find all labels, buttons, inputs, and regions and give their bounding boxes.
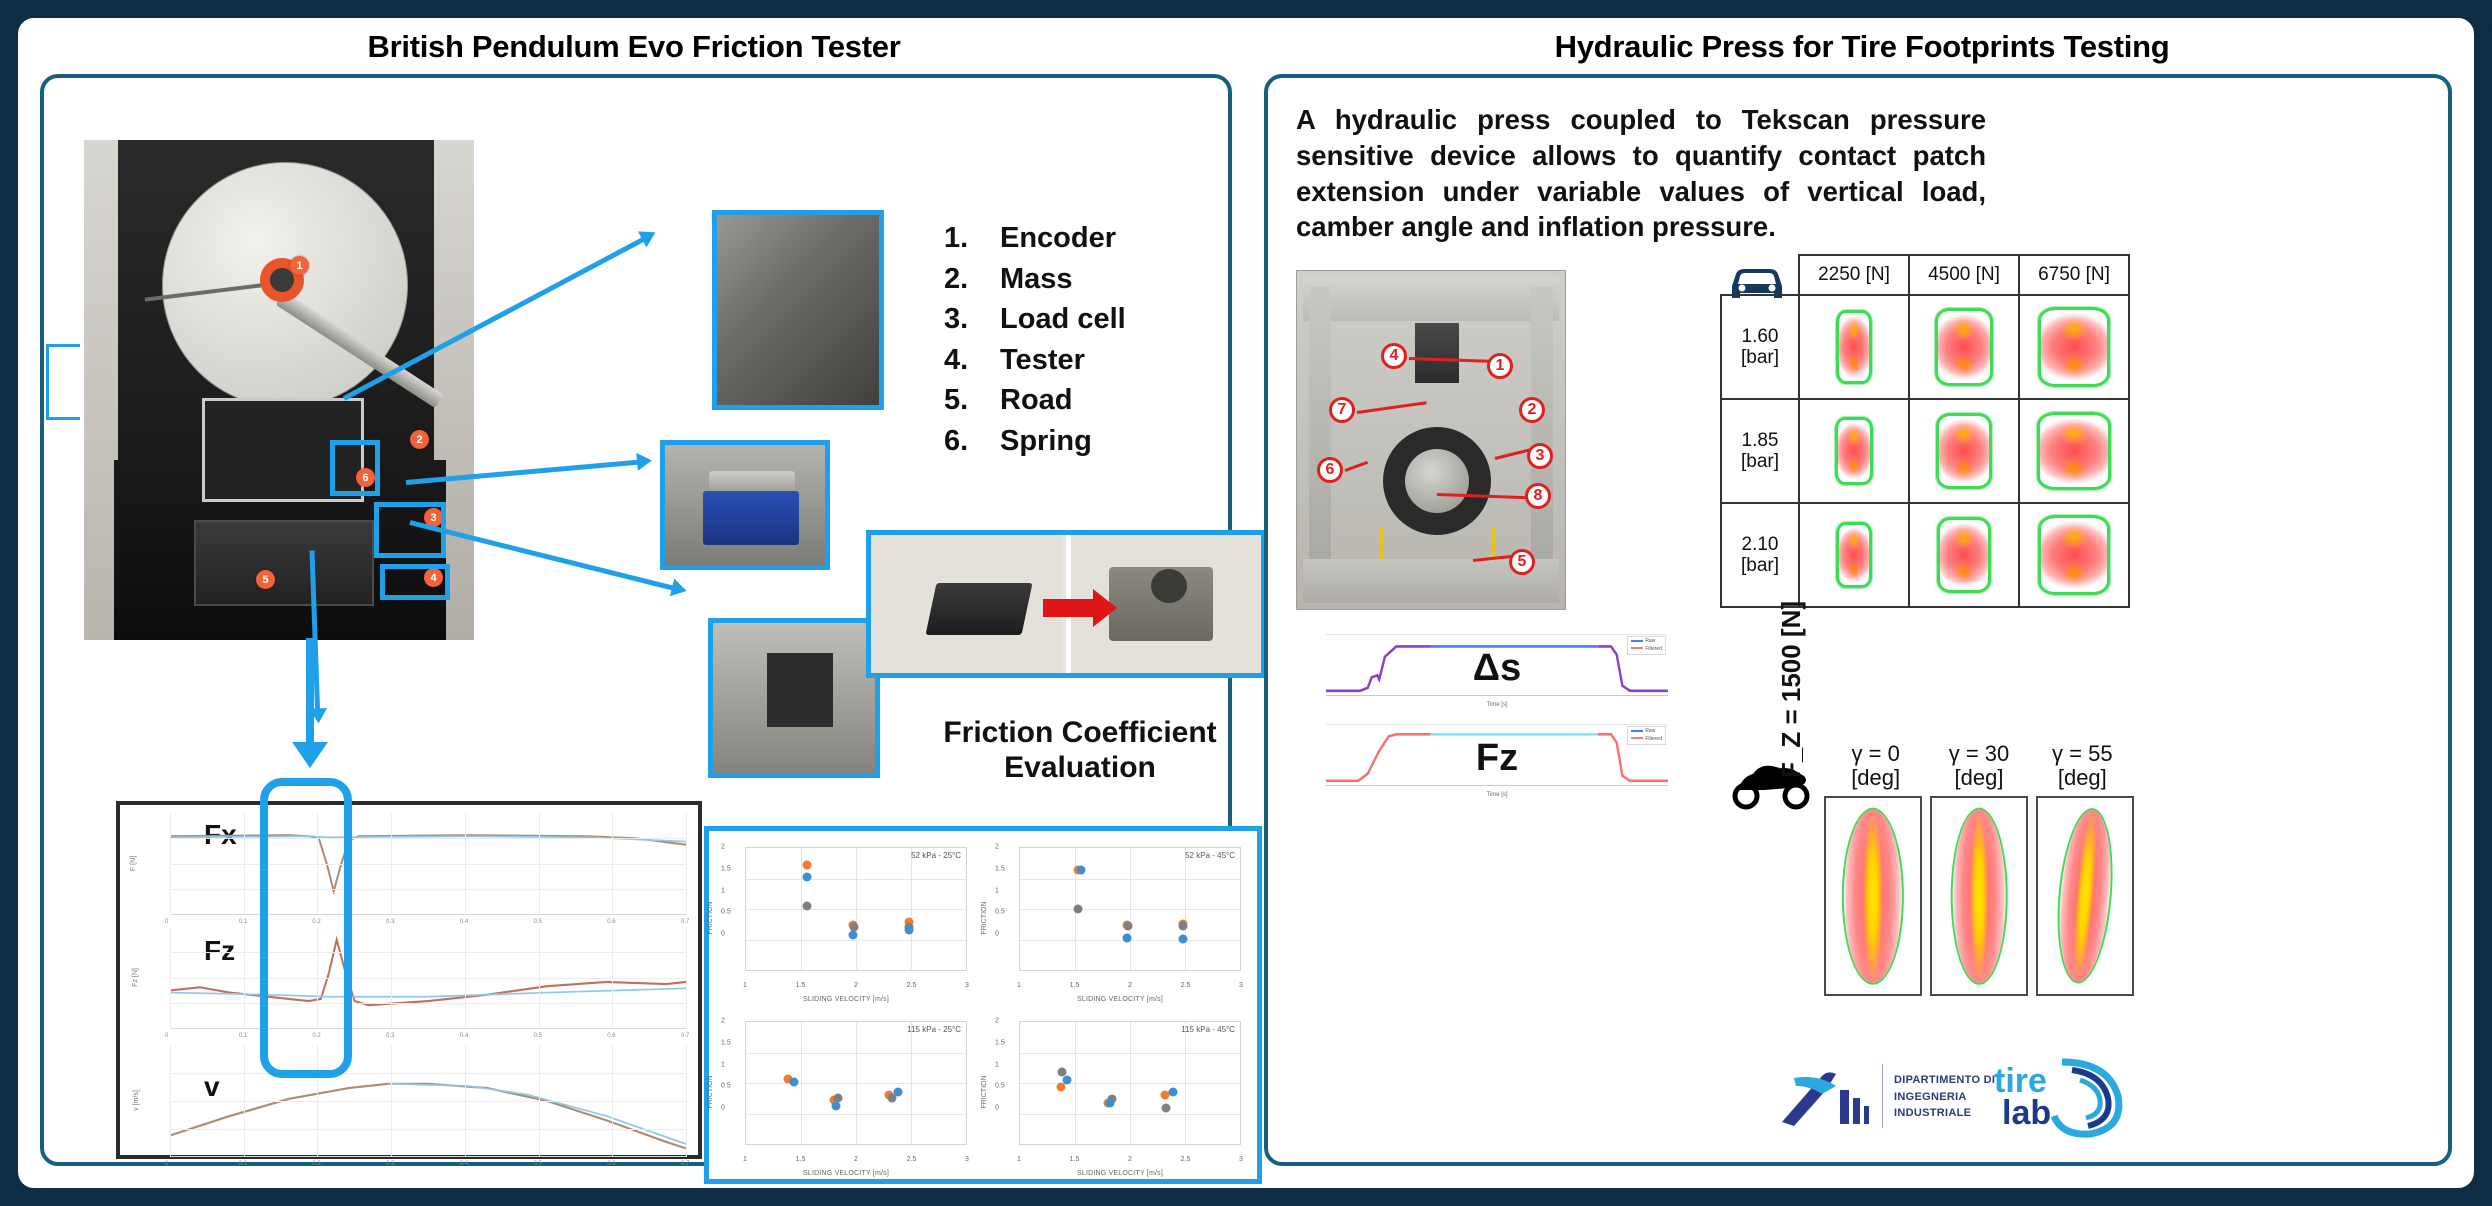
scatter-point (1178, 922, 1187, 931)
scatter-y-tick: 1 (721, 887, 725, 894)
scatter-gridline-v (1075, 1022, 1076, 1144)
friction-scatter-grid: 52 kPa - 25°C00.511.5211.522.53SLIDING V… (704, 826, 1262, 1184)
signal-highlight-box (260, 778, 352, 1078)
pressure-footprint (1839, 525, 1869, 585)
specimen-holder-hole (1151, 569, 1187, 603)
legend-label-1: Encoder (1000, 222, 1116, 254)
scatter-point (1056, 1083, 1065, 1092)
scatter-xlabel: SLIDING VELOCITY [m/s] (709, 996, 983, 1003)
dii-line-3: INDUSTRIALE (1894, 1105, 1995, 1122)
poster-frame: British Pendulum Evo Friction Tester 1 2… (0, 0, 2492, 1206)
signal-gridline-v (465, 927, 466, 1029)
tirelab-word-lab: lab (2002, 1094, 2051, 1133)
legend-num-6: 6. (944, 421, 1000, 462)
delta-s-plot: Δs Raw Filtered Time [s] (1326, 634, 1668, 696)
scatter-point (1123, 922, 1132, 931)
footprint-cell-2-0 (1799, 503, 1909, 607)
scatter-gridline-v (1185, 1022, 1186, 1144)
signal-gridline-v (170, 1045, 171, 1157)
scatter-point (893, 1087, 902, 1096)
footprint-cell-1-0 (1799, 399, 1909, 503)
camber-pressure-footprint (1844, 810, 1902, 982)
scatter-x-tick: 3 (1239, 982, 1243, 989)
delta-s-big-label: Δs (1326, 647, 1668, 690)
pressure-footprint (1938, 311, 1990, 383)
scatter-x-tick: 1 (1017, 1156, 1021, 1163)
scatter-y-tick: 0 (721, 931, 725, 938)
legend-item-6: 6.Spring (944, 421, 1126, 462)
footprint-row-header-0: 1.60 [bar] (1721, 295, 1799, 399)
dii-line-2: INGEGNERIA (1894, 1089, 1995, 1106)
left-panel: 1 2 3 4 5 6 (40, 74, 1232, 1166)
scatter-y-tick: 1.5 (721, 1039, 731, 1046)
signal-gridline-v (539, 1045, 540, 1157)
footprint-cell-1-1 (1909, 399, 2019, 503)
legend-num-3: 3. (944, 299, 1000, 340)
press-leader-6 (1344, 461, 1368, 472)
press-top-beam (1303, 277, 1559, 321)
tirelab-logo: tire lab (1990, 1054, 2138, 1140)
press-callout-7: 7 (1329, 397, 1355, 423)
signal-gridline-v (539, 927, 540, 1029)
scatter-x-tick: 1.5 (796, 1156, 806, 1163)
fz-subplot: Fz [N] Fz 00.10.20.30.40.50.60.7 (170, 927, 686, 1029)
poster-columns: British Pendulum Evo Friction Tester 1 2… (18, 18, 2474, 1188)
signal-gridline-v (612, 813, 613, 915)
signal-x-tick: 0.4 (460, 1161, 468, 1167)
legend-item-4: 4.Tester (944, 340, 1126, 381)
signal-x-tick: 0.3 (386, 1161, 394, 1167)
friction-coefficient-heading: Friction Coefficient Evaluation (900, 716, 1260, 785)
scatter-y-tick: 0.5 (721, 1083, 731, 1090)
signal-gridline-v (170, 927, 171, 1029)
scatter-y-tick: 1 (995, 887, 999, 894)
legend-label-3: Load cell (1000, 303, 1126, 335)
legend-num-1: 1. (944, 218, 1000, 259)
signal-x-tick: 0.4 (460, 919, 468, 925)
press-frame-right (1531, 287, 1553, 585)
dii-logo-text: DIPARTIMENTO DI INGEGNERIA INDUSTRIALE (1894, 1072, 1995, 1122)
signal-x-tick: 0.6 (607, 919, 615, 925)
scatter-ylabel: FRICTION (707, 1075, 714, 1108)
scatter-y-tick: 0 (721, 1105, 725, 1112)
scatter-y-tick: 0 (995, 1105, 999, 1112)
scatter-x-tick: 1 (743, 1156, 747, 1163)
scatter-x-tick: 3 (965, 1156, 969, 1163)
signal-gridline-v (686, 927, 687, 1029)
right-panel-title: Hydraulic Press for Tire Footprints Test… (1250, 18, 2474, 65)
scatter-point (802, 901, 811, 910)
pressure-footprint (1838, 420, 1870, 482)
scatter-gridline-v (801, 1022, 802, 1144)
footprint-header-row: 2250 [N] 4500 [N] 6750 [N] (1721, 255, 2129, 295)
signal-gridline-v (612, 1045, 613, 1157)
fx-subplot: F [N] Fx 00.10.20.30.40.50.60.7 (170, 813, 686, 915)
tester-block (767, 653, 833, 727)
signal-x-tick: 0.5 (534, 919, 542, 925)
legend-text-raw: Raw (1645, 638, 1655, 644)
signal-gridline-h (170, 864, 686, 865)
footprint-matrix: 2250 [N] 4500 [N] 6750 [N] 1.60 [bar] 1.… (1720, 254, 2130, 608)
fx-ylabel: F [N] (130, 856, 137, 871)
scatter-point (1074, 905, 1083, 914)
logo-divider (1882, 1064, 1883, 1128)
press-actuator-column (1415, 323, 1459, 383)
scatter-y-tick: 1 (721, 1061, 725, 1068)
legend-label-2: Mass (1000, 263, 1073, 295)
bracket-left-connector (46, 344, 80, 420)
scatter-x-tick: 1 (1017, 982, 1021, 989)
scatter-panel-0: 52 kPa - 25°C00.511.5211.522.53SLIDING V… (709, 831, 983, 1005)
scatter-x-tick: 2 (854, 1156, 858, 1163)
signal-gridline-v (686, 1045, 687, 1157)
scatter-x-tick: 1.5 (1070, 982, 1080, 989)
footprint-col-header-1: 4500 [N] (1909, 255, 2019, 295)
legend-swatch-raw-2 (1631, 730, 1643, 732)
legend-swatch-filtered (1631, 647, 1643, 649)
scatter-point (832, 1102, 841, 1111)
signal-gridline-v (686, 813, 687, 915)
footprint-col-header-2: 6750 [N] (2019, 255, 2129, 295)
scatter-ylabel: FRICTION (981, 901, 988, 934)
camber-label-1: γ = 30 [deg] (1949, 741, 2010, 790)
scatter-y-tick: 1.5 (995, 865, 1005, 872)
signal-x-tick: 0.4 (460, 1033, 468, 1039)
signal-gridline-v (465, 1045, 466, 1157)
footprint-col-header-0: 2250 [N] (1799, 255, 1909, 295)
signal-gridline-h (170, 1073, 686, 1074)
legend-num-2: 2. (944, 259, 1000, 300)
highlight-stem (306, 638, 314, 748)
scatter-x-tick: 1.5 (796, 982, 806, 989)
dii-line-1: DIPARTIMENTO DI (1894, 1072, 1995, 1089)
press-callout-8: 8 (1525, 483, 1551, 509)
encoder-detail-photo (712, 210, 884, 410)
v-ylabel: v [m/s] (133, 1090, 140, 1111)
signal-gridline-h (170, 1129, 686, 1130)
left-column: British Pendulum Evo Friction Tester 1 2… (18, 18, 1250, 1188)
v-subplot: v [m/s] v 00.10.20.30.40.50.60.7 (170, 1045, 686, 1157)
signal-x-tick: 0 (165, 1161, 168, 1167)
footprint-cell-2-1 (1909, 503, 2019, 607)
load-cell-body (703, 491, 799, 545)
signal-x-tick: 0.7 (681, 1033, 689, 1039)
delta-s-legend-filtered: Filtered (1631, 646, 1662, 654)
signal-gridline-v (612, 927, 613, 1029)
legend-label-5: Road (1000, 384, 1073, 416)
camber-header-2: γ = 55 [deg] (2031, 742, 2134, 790)
signal-gridline-h (170, 952, 686, 953)
signal-gridline-v (465, 813, 466, 915)
signal-gridline-h (170, 838, 686, 839)
signal-gridline-v (391, 1045, 392, 1157)
scatter-gridline-v (1185, 848, 1186, 970)
signal-gridline-v (170, 813, 171, 915)
legend-item-5: 5.Road (944, 380, 1126, 421)
pendulum-hub-inner (270, 268, 294, 292)
signal-gridline-v (244, 813, 245, 915)
camber-cell-1 (1930, 796, 2028, 996)
scatter-panel-2: 115 kPa - 25°C00.511.5211.522.53SLIDING … (709, 1005, 983, 1179)
signal-gridline-h (170, 978, 686, 979)
scatter-xlabel: SLIDING VELOCITY [m/s] (709, 1170, 983, 1177)
scatter-panel-title: 52 kPa - 45°C (1185, 851, 1235, 860)
pressure-footprint (2041, 518, 2107, 592)
signal-x-tick: 0.1 (239, 1033, 247, 1039)
footprint-cell-2-2 (2019, 503, 2129, 607)
scatter-x-tick: 2.5 (1181, 1156, 1191, 1163)
camber-headers: γ = 0 [deg] γ = 30 [deg] γ = 55 [deg] (1824, 742, 2134, 790)
legend-swatch-filtered-2 (1631, 737, 1643, 739)
signal-x-tick: 0.7 (681, 1161, 689, 1167)
left-panel-title: British Pendulum Evo Friction Tester (18, 18, 1250, 65)
scatter-x-tick: 2.5 (907, 1156, 917, 1163)
load-cell-detail-photo (660, 440, 830, 570)
transform-arrow-icon (1043, 599, 1095, 617)
scatter-y-tick: 1 (995, 1061, 999, 1068)
scatter-y-tick: 2 (995, 1018, 999, 1025)
legend-label-6: Spring (1000, 425, 1092, 457)
legend-item-3: 3.Load cell (944, 299, 1126, 340)
camber-cell-2 (2036, 796, 2134, 996)
scatter-x-tick: 3 (1239, 1156, 1243, 1163)
scatter-y-tick: 0 (995, 931, 999, 938)
footprint-cell-1-2 (2019, 399, 2129, 503)
signal-gridline-h (170, 889, 686, 890)
scatter-point (1106, 1099, 1115, 1108)
press-frame-left (1309, 287, 1331, 585)
zoom-box-encoder (330, 440, 380, 496)
delta-s-xlabel: Time [s] (1326, 702, 1668, 708)
footprint-row-2: 2.10 [bar] (1721, 503, 2129, 607)
scatter-point (790, 1077, 799, 1086)
scatter-x-tick: 2 (1128, 982, 1132, 989)
tester-detail-photo (708, 618, 880, 778)
footprint-cell-0-2 (2019, 295, 2129, 399)
scatter-x-tick: 2 (854, 982, 858, 989)
fz-axis-label: F_Z = 1500 [N] (1776, 601, 1807, 778)
footprint-row-0: 1.60 [bar] (1721, 295, 2129, 399)
scatter-ylabel: FRICTION (707, 901, 714, 934)
pendulum-tester-photo: 1 2 3 4 5 6 (84, 140, 474, 640)
signal-gridline-h (170, 1003, 686, 1004)
hydraulic-press-photo: 4 1 2 7 3 6 8 5 (1296, 270, 1566, 610)
signal-traces-panel: F [N] Fx 00.10.20.30.40.50.60.7 Fz [N] F… (116, 801, 702, 1159)
signal-x-tick: 0.3 (386, 919, 394, 925)
press-callout-1: 1 (1487, 353, 1513, 379)
footprint-cell-0-0 (1799, 295, 1909, 399)
fz-press-xlabel: Time [s] (1326, 792, 1668, 798)
scatter-plot-area: 115 kPa - 45°C (1019, 1021, 1241, 1145)
camber-cell-0 (1824, 796, 1922, 996)
scatter-gridline-v (856, 1022, 857, 1144)
footprint-row-1: 1.85 [bar] (1721, 399, 2129, 503)
signal-gridline-v (391, 813, 392, 915)
highlight-arrow-icon (292, 742, 328, 768)
car-footprint-table: 2250 [N] 4500 [N] 6750 [N] 1.60 [bar] 1.… (1720, 254, 2130, 608)
scatter-point (1122, 933, 1131, 942)
scatter-point (904, 925, 913, 934)
fz-press-legend: Raw Filtered (1627, 726, 1666, 745)
scatter-panel-1: 52 kPa - 45°C00.511.5211.522.53SLIDING V… (983, 831, 1257, 1005)
photo-marker-2: 2 (410, 430, 429, 449)
scatter-point (848, 930, 857, 939)
scatter-plot-area: 52 kPa - 45°C (1019, 847, 1241, 971)
scatter-y-tick: 0.5 (995, 909, 1005, 916)
scatter-point (1178, 934, 1187, 943)
scatter-point (1076, 865, 1085, 874)
scatter-x-tick: 1.5 (1070, 1156, 1080, 1163)
photo-marker-5: 5 (256, 570, 275, 589)
scatter-y-tick: 0.5 (721, 909, 731, 916)
displacement-force-plots: Δs Raw Filtered Time [s] Fz (1302, 634, 1672, 796)
signal-x-tick: 0.5 (534, 1161, 542, 1167)
footprint-cell-0-1 (1909, 295, 2019, 399)
legend-text-raw-2: Raw (1645, 728, 1655, 734)
legend-num-5: 5. (944, 380, 1000, 421)
scatter-point (1168, 1087, 1177, 1096)
specimen-comparison-photo (866, 530, 1266, 678)
pressure-footprint (1940, 520, 1988, 590)
signal-x-tick: 0.1 (239, 1161, 247, 1167)
pressure-footprint (2040, 415, 2108, 487)
press-callout-2: 2 (1519, 397, 1545, 423)
signal-x-tick: 0.3 (386, 1033, 394, 1039)
scatter-panel-title: 52 kPa - 25°C (911, 851, 961, 860)
scatter-gridline-v (1130, 1022, 1131, 1144)
signal-x-tick: 0.2 (312, 1161, 320, 1167)
scatter-x-tick: 2.5 (1181, 982, 1191, 989)
scatter-gridline-v (856, 848, 857, 970)
pressure-footprint (2041, 310, 2107, 384)
legend-swatch-raw (1631, 640, 1643, 642)
scatter-x-tick: 3 (965, 982, 969, 989)
press-description: A hydraulic press coupled to Tekscan pre… (1296, 102, 1986, 245)
press-callout-6: 6 (1317, 457, 1343, 483)
scatter-x-tick: 2.5 (907, 982, 917, 989)
scatter-ylabel: FRICTION (981, 1075, 988, 1108)
footprint-row-header-2: 2.10 [bar] (1721, 503, 1799, 607)
scatter-gridline-v (911, 848, 912, 970)
press-tire (1383, 427, 1491, 535)
specimen-raw-half (871, 535, 1062, 673)
scatter-point (802, 873, 811, 882)
photo-marker-1: 1 (290, 256, 309, 275)
footprint-row-header-1: 1.85 [bar] (1721, 399, 1799, 503)
scatter-point (1063, 1075, 1072, 1084)
legend-text-filtered-2: Filtered (1645, 736, 1662, 742)
signal-x-tick: 0 (165, 1033, 168, 1039)
legend-label-4: Tester (1000, 344, 1085, 376)
fz-ylabel: Fz [N] (132, 968, 139, 987)
signal-x-tick: 0.7 (681, 919, 689, 925)
signal-gridline-v (391, 927, 392, 1029)
delta-s-legend: Raw Filtered (1627, 636, 1666, 655)
signal-gridline-v (539, 813, 540, 915)
friction-heading-line-1: Friction Coefficient (900, 716, 1260, 751)
press-callout-3: 3 (1527, 443, 1553, 469)
signal-x-tick: 0.6 (607, 1033, 615, 1039)
camber-header-1: γ = 30 [deg] (1927, 742, 2030, 790)
delta-s-legend-raw: Raw (1631, 638, 1662, 646)
scatter-y-tick: 2 (995, 844, 999, 851)
scatter-y-tick: 0.5 (995, 1083, 1005, 1090)
component-legend-list: 1.Encoder 2.Mass 3.Load cell 4.Tester 5.… (944, 218, 1126, 462)
fz-legend-filtered: Filtered (1631, 736, 1662, 744)
press-callout-4: 4 (1381, 343, 1407, 369)
press-callout-5: 5 (1509, 549, 1535, 575)
signal-x-tick: 0.1 (239, 919, 247, 925)
signal-gridline-h (170, 1101, 686, 1102)
camber-footprint-group: γ = 0 [deg] γ = 30 [deg] γ = 55 [deg] (1824, 742, 2134, 996)
camber-label-2: γ = 55 [deg] (2052, 741, 2113, 790)
signal-gridline-v (244, 1045, 245, 1157)
scatter-xlabel: SLIDING VELOCITY [m/s] (983, 996, 1257, 1003)
press-wheel-rim (1405, 449, 1469, 513)
photo-wall-left (84, 140, 118, 640)
right-panel: A hydraulic press coupled to Tekscan pre… (1264, 74, 2452, 1166)
signal-x-tick: 0.5 (534, 1033, 542, 1039)
press-leader-7 (1357, 401, 1427, 414)
scatter-x-tick: 1 (743, 982, 747, 989)
camber-header-0: γ = 0 [deg] (1824, 742, 1927, 790)
scatter-y-tick: 1.5 (995, 1039, 1005, 1046)
legend-item-1: 1.Encoder (944, 218, 1126, 259)
scatter-x-tick: 2 (1128, 1156, 1132, 1163)
legend-text-filtered: Filtered (1645, 646, 1662, 652)
logo-row: DIPARTIMENTO DI INGEGNERIA INDUSTRIALE t… (1778, 1046, 2138, 1144)
scatter-panel-3: 115 kPa - 45°C00.511.5211.522.53SLIDING … (983, 1005, 1257, 1179)
scatter-point (802, 861, 811, 870)
legend-num-4: 4. (944, 340, 1000, 381)
scatter-y-tick: 2 (721, 844, 725, 851)
dii-logo-icon (1778, 1060, 1874, 1132)
pressure-footprint (1839, 313, 1869, 381)
camber-cells (1824, 796, 2134, 996)
camber-label-0: γ = 0 [deg] (1851, 741, 1900, 790)
fz-press-big-label: Fz (1326, 737, 1668, 780)
scatter-gridline-v (911, 1022, 912, 1144)
footprint-corner-cell (1721, 255, 1799, 295)
scatter-y-tick: 2 (721, 1018, 725, 1025)
camber-pressure-footprint (1953, 810, 2006, 982)
pressure-footprint (1939, 416, 1989, 486)
scatter-panel-title: 115 kPa - 45°C (1181, 1025, 1235, 1034)
press-leader-3 (1495, 448, 1531, 460)
scatter-panel-title: 115 kPa - 25°C (907, 1025, 961, 1034)
rubber-sample (925, 583, 1032, 635)
legend-item-2: 2.Mass (944, 259, 1126, 300)
friction-heading-line-2: Evaluation (900, 751, 1260, 786)
signal-x-tick: 0.6 (607, 1161, 615, 1167)
scatter-plot-area: 52 kPa - 25°C (745, 847, 967, 971)
camber-pressure-footprint (2053, 808, 2117, 984)
scatter-point (1162, 1104, 1171, 1113)
pendulum-road-plate (194, 520, 374, 606)
fz-legend-raw: Raw (1631, 728, 1662, 736)
scatter-y-tick: 1.5 (721, 865, 731, 872)
scatter-gridline-v (1130, 848, 1131, 970)
scatter-plot-area: 115 kPa - 25°C (745, 1021, 967, 1145)
signal-x-tick: 0 (165, 919, 168, 925)
fz-press-plot: Fz Raw Filtered Time [s] (1326, 724, 1668, 786)
signal-gridline-v (244, 927, 245, 1029)
right-column: Hydraulic Press for Tire Footprints Test… (1250, 18, 2474, 1188)
scatter-xlabel: SLIDING VELOCITY [m/s] (983, 1170, 1257, 1177)
zoom-box-tester (380, 564, 450, 600)
